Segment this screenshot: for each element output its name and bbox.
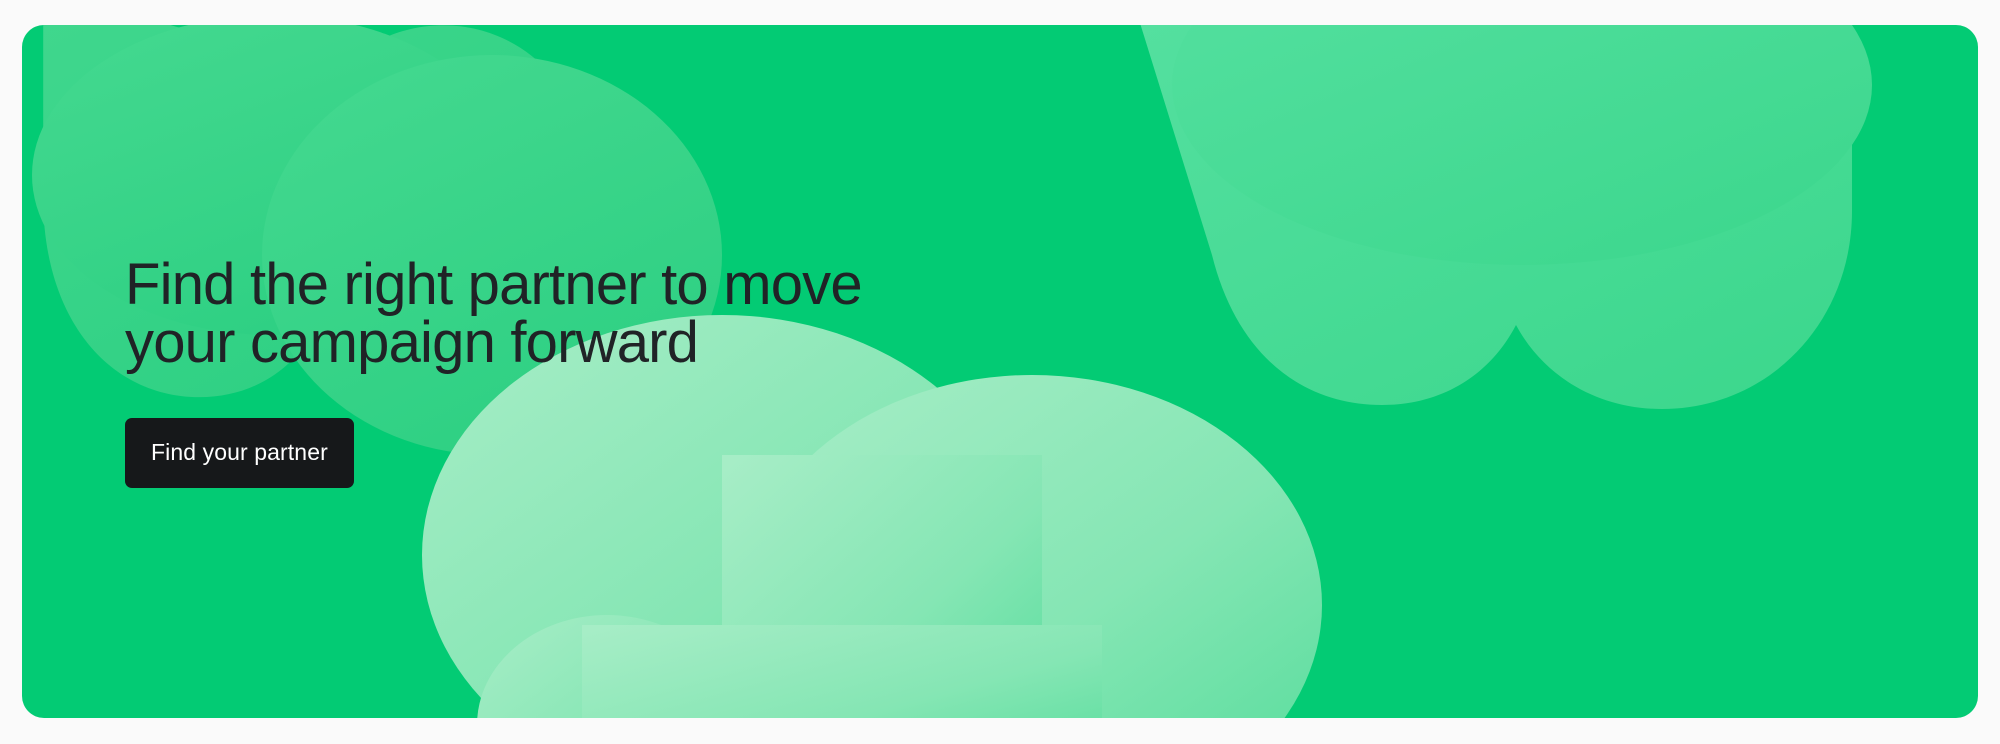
find-your-partner-button[interactable]: Find your partner [125,418,354,488]
cloud-top-right-icon [1122,25,1872,409]
partner-hero-banner: Find the right partner to move your camp… [22,25,1978,718]
hero-cta-row: Find your partner [125,418,1025,488]
page-root: Find the right partner to move your camp… [0,0,2000,744]
page-title: Find the right partner to move your camp… [125,256,1025,372]
hero-content: Find the right partner to move your camp… [125,25,1025,718]
